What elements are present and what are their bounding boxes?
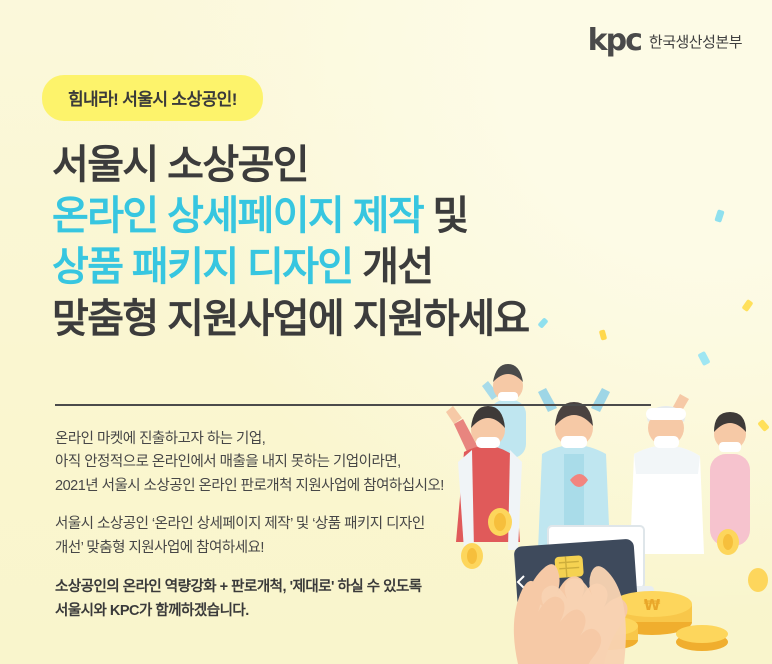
kpc-logo-text: 한국생산성본부 — [649, 31, 742, 52]
headline-line-3: 상품 패키지 디자인 개선 — [52, 242, 529, 293]
paragraph-3-line-2: 서울시와 KPC가 함께하겠습니다. — [55, 600, 525, 623]
paragraph-1-line-1: 온라인 마켓에 진출하고자 하는 기업, — [55, 428, 525, 451]
kpc-logo-mark: kpc — [588, 26, 641, 56]
headline-line-4: 맞춤형 지원사업에 지원하세요 — [52, 294, 529, 345]
headline-line-2-highlight: 온라인 상세페이지 제작 — [52, 194, 423, 238]
paragraph-1: 온라인 마켓에 진출하고자 하는 기업, 아직 안정적으로 온라인에서 매출을 … — [55, 428, 525, 498]
headline-line-2: 온라인 상세페이지 제작 및 — [52, 191, 529, 242]
paragraph-1-line-2: 아직 안정적으로 온라인에서 매출을 내지 못하는 기업이라면, — [55, 451, 525, 474]
body-copy: 온라인 마켓에 진출하고자 하는 기업, 아직 안정적으로 온라인에서 매출을 … — [55, 428, 525, 623]
paragraph-2-line-1: 서울시 소상공인 ‘온라인 상세페이지 제작’ 및 ‘상품 패키지 디자인 — [55, 513, 525, 536]
kpc-logo: kpc 한국생산성본부 — [588, 26, 742, 56]
page-title: 서울시 소상공인 온라인 상세페이지 제작 및 상품 패키지 디자인 개선 맞춤… — [52, 140, 529, 345]
poster-root: kpc 한국생산성본부 힘내라! 서울시 소상공인! 서울시 소상공인 온라인 … — [0, 0, 772, 664]
paragraph-3: 소상공인의 온라인 역량강화 + 판로개척, '제대로' 하실 수 있도록 서울… — [55, 576, 525, 623]
headline-line-3-tail: 개선 — [353, 245, 433, 289]
paragraph-3-line-1: 소상공인의 온라인 역량강화 + 판로개척, '제대로' 하실 수 있도록 — [55, 576, 525, 599]
paragraph-2: 서울시 소상공인 ‘온라인 상세페이지 제작’ 및 ‘상품 패키지 디자인 개선… — [55, 513, 525, 560]
paragraph-1-line-3: 2021년 서울시 소상공인 온라인 판로개척 지원사업에 참여하십시오! — [55, 475, 525, 498]
headline-line-1-text: 서울시 소상공인 — [52, 143, 308, 187]
headline-line-1: 서울시 소상공인 — [52, 140, 529, 191]
headline-line-3-highlight: 상품 패키지 디자인 — [52, 245, 353, 289]
divider — [55, 404, 651, 406]
headline-line-2-tail: 및 — [423, 194, 468, 238]
status-badge: 힘내라! 서울시 소상공인! — [42, 75, 263, 121]
paragraph-2-line-2: 개선’ 맞춤형 지원사업에 참여하세요! — [55, 537, 525, 560]
headline-line-4-text: 맞춤형 지원사업에 지원하세요 — [52, 297, 529, 341]
person-cheering-pink — [710, 412, 750, 546]
svg-text:₩: ₩ — [644, 596, 661, 614]
